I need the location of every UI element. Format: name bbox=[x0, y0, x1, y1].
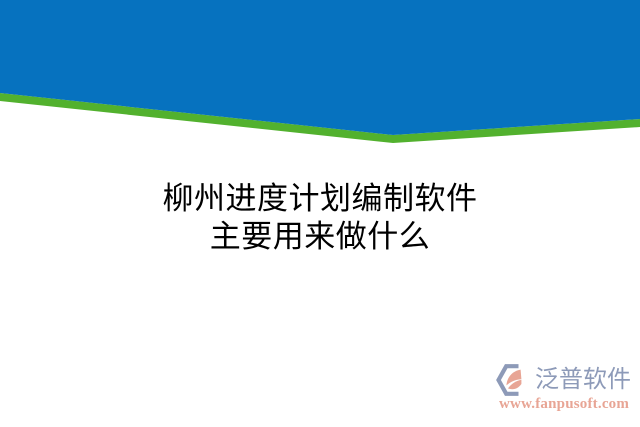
brand-name: 泛普软件 bbox=[535, 367, 631, 393]
page-title: 柳州进度计划编制软件 主要用来做什么 bbox=[0, 180, 640, 256]
chevron-banner-graphic bbox=[0, 0, 640, 160]
brand-logo-row: 泛普软件 bbox=[496, 363, 631, 397]
brand-url: www.fanpusoft.com bbox=[499, 396, 629, 413]
title-line-1: 柳州进度计划编制软件 bbox=[0, 180, 640, 218]
fanpu-hexagon-logo-icon bbox=[496, 364, 532, 396]
chevron-banner bbox=[0, 0, 640, 160]
slide-canvas: 柳州进度计划编制软件 主要用来做什么 泛普软件 www.fanpusoft.co… bbox=[0, 0, 640, 427]
brand-logo: 泛普软件 www.fanpusoft.com bbox=[496, 363, 636, 421]
title-line-2: 主要用来做什么 bbox=[0, 218, 640, 256]
blue-chevron bbox=[0, 0, 640, 135]
green-stripe bbox=[0, 93, 640, 143]
